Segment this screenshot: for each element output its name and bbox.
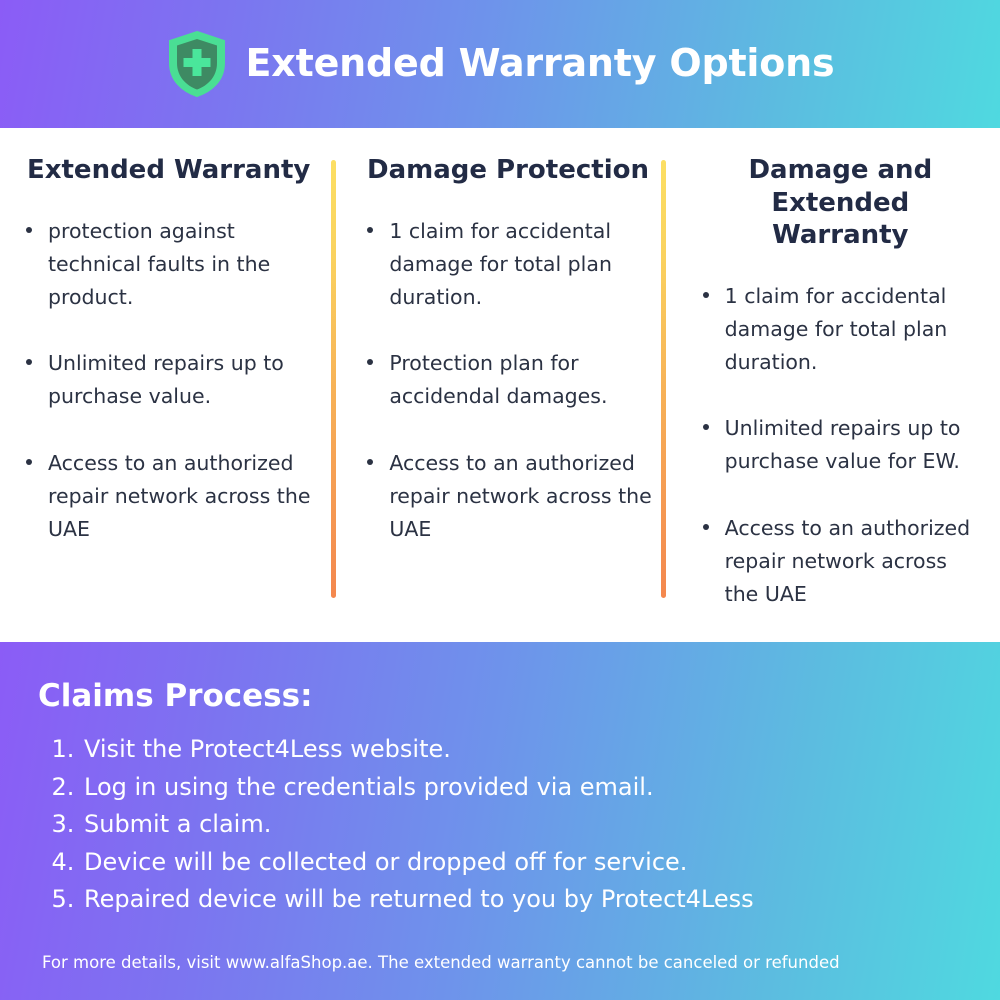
column-title: Damage Protection: [363, 154, 652, 187]
claims-step: Repaired device will be returned to you …: [82, 881, 966, 918]
claims-step-text: Repaired device will be returned to you …: [84, 885, 754, 913]
feature-list: protection against technical faults in t…: [22, 215, 315, 547]
claims-step: Log in using the credentials provided vi…: [82, 769, 966, 806]
claims-process-title: Claims Process:: [38, 678, 966, 715]
column-divider: [661, 160, 666, 598]
header-banner: Extended Warranty Options: [0, 0, 1000, 128]
footer-note: For more details, visit www.alfaShop.ae.…: [38, 951, 966, 974]
feature-item: Unlimited repairs up to purchase value f…: [699, 412, 982, 478]
feature-item: Access to an authorized repair network a…: [699, 512, 982, 612]
claims-steps-list: Visit the Protect4Less website. Log in u…: [48, 731, 966, 918]
plan-column-extended-warranty: Extended Warranty protection against tec…: [0, 128, 333, 642]
feature-item: 1 claim for accidental damage for total …: [699, 280, 982, 380]
feature-list: 1 claim for accidental damage for total …: [363, 215, 652, 547]
claims-step: Device will be collected or dropped off …: [82, 844, 966, 881]
plan-column-damage-protection: Damage Protection 1 claim for accidental…: [333, 128, 666, 642]
warranty-options-poster: Extended Warranty Options Extended Warra…: [0, 0, 1000, 1000]
claims-process-section: Claims Process: Visit the Protect4Less w…: [0, 642, 1000, 1000]
feature-item: 1 claim for accidental damage for total …: [363, 215, 652, 315]
comparison-columns: Extended Warranty protection against tec…: [0, 128, 1000, 642]
claims-step: Submit a claim.: [82, 806, 966, 843]
claims-step-text: Submit a claim.: [84, 810, 271, 838]
claims-step-text: Visit the Protect4Less website.: [84, 735, 451, 763]
claims-step-text: Log in using the credentials provided vi…: [84, 773, 654, 801]
shield-plus-icon: [166, 30, 228, 98]
feature-item: Access to an authorized repair network a…: [363, 447, 652, 547]
column-title: Damage and Extended Warranty: [699, 154, 982, 252]
claims-step-text: Device will be collected or dropped off …: [84, 848, 687, 876]
feature-list: 1 claim for accidental damage for total …: [699, 280, 982, 612]
plan-column-damage-and-extended-warranty: Damage and Extended Warranty 1 claim for…: [667, 128, 1000, 642]
page-title: Extended Warranty Options: [246, 43, 835, 85]
claims-step: Visit the Protect4Less website.: [82, 731, 966, 768]
feature-item: Protection plan for accidendal damages.: [363, 347, 652, 413]
column-title: Extended Warranty: [22, 154, 315, 187]
feature-item: Access to an authorized repair network a…: [22, 447, 315, 547]
feature-item: Unlimited repairs up to purchase value.: [22, 347, 315, 413]
column-divider: [331, 160, 336, 598]
feature-item: protection against technical faults in t…: [22, 215, 315, 315]
